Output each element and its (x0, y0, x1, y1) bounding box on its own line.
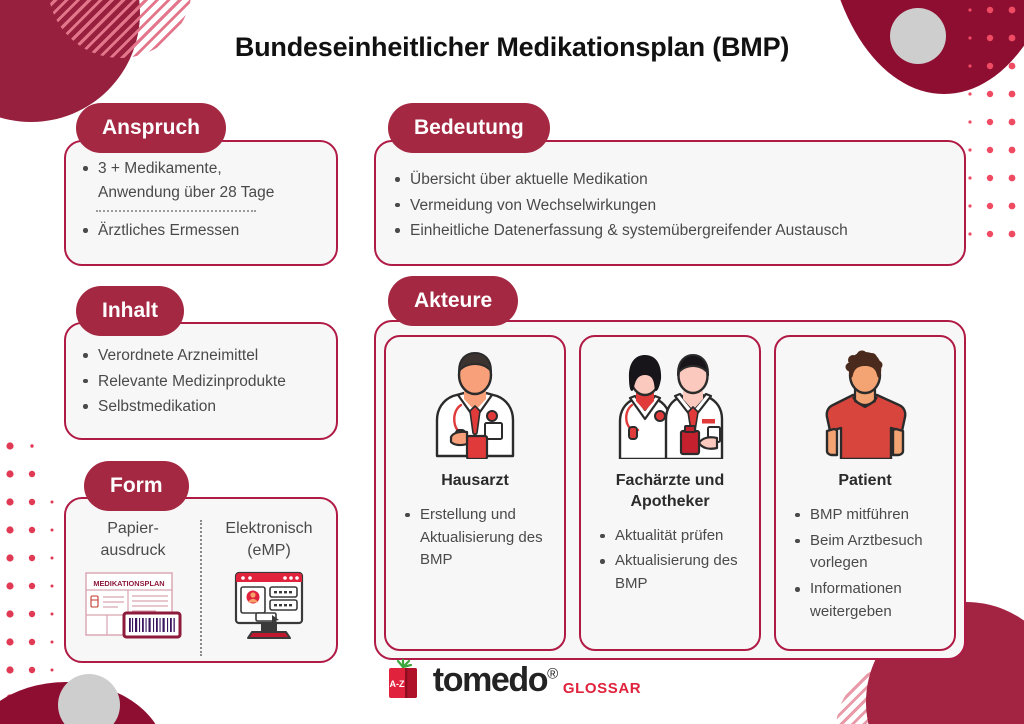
anspruch-content: 3 + Medikamente, Anwendung über 28 Tage … (80, 157, 330, 245)
list-item: Aktualisierung des BMP (597, 550, 751, 596)
actor-illustration (608, 347, 732, 459)
page-title: Bundeseinheitlicher Medikationsplan (BMP… (0, 32, 1024, 63)
form-option-paper: Papier- ausdruck MEDIKATIONSPLAN (66, 512, 200, 658)
form-electronic-line2: (eMP) (247, 542, 291, 559)
actor-list: Erstellung und Aktualisierung des BMP (394, 504, 556, 575)
footer-logo: A-Z tomedo® GLOSSAR (0, 658, 1024, 702)
list-item: Aktualität prüfen (597, 525, 751, 548)
male-doctor-icon (423, 349, 527, 459)
list-item: BMP mitführen (792, 504, 946, 527)
list-item: Selbstmedikation (80, 395, 330, 419)
list-item: Erstellung und Aktualisierung des BMP (402, 504, 556, 572)
list-item: Einheitliche Datenerfassung & systemüber… (392, 219, 960, 243)
list-item: Verordnete Arzneimittel (80, 344, 330, 368)
form-paper-label: Papier- ausdruck (101, 518, 166, 561)
section-header-anspruch: Anspruch (76, 103, 226, 153)
list-item: Ärztliches Ermessen (80, 219, 330, 243)
actor-card-fachaerzte-apotheker: Fachärzte und Apotheker Aktualität prüfe… (579, 335, 761, 651)
inhalt-list: Verordnete Arzneimittel Relevante Medizi… (80, 344, 330, 421)
list-item: 3 + Medikamente, Anwendung über 28 Tage (80, 157, 330, 204)
form-content: Papier- ausdruck MEDIKATIONSPLAN (66, 512, 336, 658)
actor-title: Patient (838, 471, 891, 492)
logo-glossar-text: GLOSSAR (563, 680, 641, 697)
logo-wordmark: tomedo® (433, 661, 557, 700)
form-option-electronic: Elektronisch (eMP) (202, 512, 336, 658)
list-item: Informationen weitergeben (792, 578, 946, 624)
tomedo-book-icon: A-Z (383, 658, 423, 702)
anspruch-list: 3 + Medikamente, Anwendung über 28 Tage (80, 157, 330, 204)
form-paper-line2: ausdruck (101, 542, 166, 559)
anspruch-item-0-line2: Anwendung über 28 Tage (98, 184, 274, 201)
two-doctors-icon (608, 349, 732, 459)
list-item: Relevante Medizinprodukte (80, 370, 330, 394)
dotted-divider (96, 210, 256, 212)
actor-card-patient: Patient BMP mitführen Beim Arztbesuch vo… (774, 335, 956, 651)
actor-illustration (423, 347, 527, 459)
actor-title: Hausarzt (441, 471, 509, 492)
patient-icon (815, 349, 915, 459)
form-electronic-line1: Elektronisch (225, 520, 312, 537)
logo-badge-text: A-Z (389, 679, 404, 689)
printed-medication-plan-with-barcode-icon: MEDIKATIONSPLAN (78, 569, 188, 641)
monitor-emp-icon (230, 569, 308, 641)
actor-card-hausarzt: Hausarzt Erstellung und Aktualisierung d… (384, 335, 566, 651)
infographic-page: Bundeseinheitlicher Medikationsplan (BMP… (0, 0, 1024, 724)
actor-title: Fachärzte und Apotheker (589, 471, 751, 513)
section-header-form: Form (84, 461, 189, 511)
form-electronic-label: Elektronisch (eMP) (225, 518, 312, 561)
bedeutung-list: Übersicht über aktuelle Medikation Verme… (392, 168, 960, 245)
list-item: Vermeidung von Wechselwirkungen (392, 194, 960, 218)
section-header-inhalt: Inhalt (76, 286, 184, 336)
list-item: Beim Arztbesuch vorlegen (792, 530, 946, 576)
form-paper-line1: Papier- (107, 520, 159, 537)
logo-brand-text: tomedo (433, 661, 547, 699)
actor-list: Aktualität prüfen Aktualisierung des BMP (589, 525, 751, 599)
logo-registered-mark: ® (547, 665, 557, 682)
paper-title-text: MEDIKATIONSPLAN (93, 579, 164, 588)
section-header-bedeutung: Bedeutung (388, 103, 550, 153)
list-item: Übersicht über aktuelle Medikation (392, 168, 960, 192)
anspruch-item-0-line1: 3 + Medikamente, (98, 160, 222, 177)
anspruch-list-2: Ärztliches Ermessen (80, 219, 330, 243)
actor-card-row: Hausarzt Erstellung und Aktualisierung d… (376, 335, 964, 651)
actor-list: BMP mitführen Beim Arztbesuch vorlegen I… (784, 504, 946, 627)
section-header-akteure: Akteure (388, 276, 518, 326)
actor-illustration (815, 347, 915, 459)
